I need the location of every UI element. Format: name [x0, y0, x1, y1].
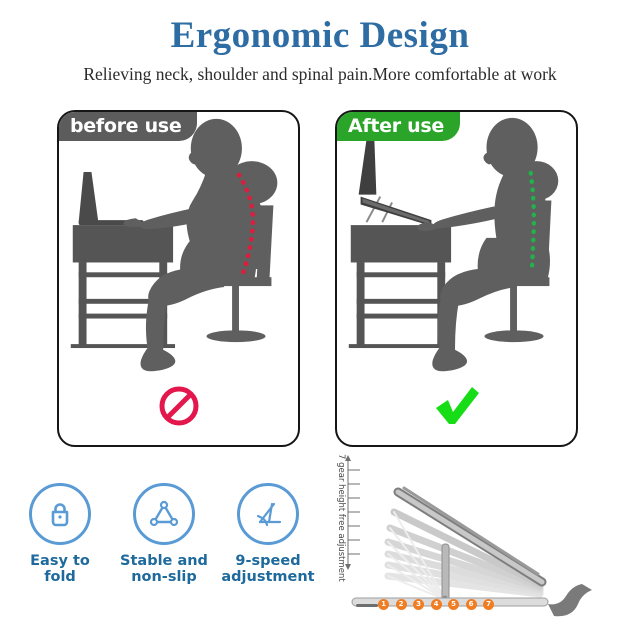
page-title: Ergonomic Design [0, 14, 640, 57]
feature-icon-wrap [133, 483, 195, 545]
feature-list: Easy to fold Stable andnon-slip [8, 483, 320, 585]
gear-marker: 5 [448, 599, 459, 610]
product-photo: 7 gear height free adjustment [326, 452, 638, 638]
checkmark-icon [432, 384, 482, 428]
page-subtitle: Relieving neck, shoulder and spinal pain… [0, 64, 640, 85]
support-post [442, 544, 449, 602]
badge-before-use: before use [58, 111, 197, 141]
height-scale [345, 455, 360, 570]
prohibition-icon [157, 384, 201, 428]
feature-label: 9-speedadjustment [220, 553, 316, 585]
feature-icon-wrap [29, 483, 91, 545]
laptop-stand-diagram [326, 452, 638, 638]
triangle-nodes-icon [146, 496, 182, 532]
gear-marker: 3 [413, 599, 424, 610]
verdict-after [432, 384, 482, 433]
angle-protractor-icon [250, 496, 286, 532]
feature-icon-wrap [237, 483, 299, 545]
gear-marker: 7 [483, 599, 494, 610]
gear-markers: 1 2 3 4 5 6 7 [378, 599, 494, 610]
feature-easy-to-fold: Easy to fold [12, 483, 108, 585]
gear-marker: 2 [396, 599, 407, 610]
gear-marker: 6 [466, 599, 477, 610]
verdict-before [157, 384, 201, 433]
infographic-page: Ergonomic Design Relieving neck, shoulde… [0, 0, 640, 640]
feature-label: Easy to fold [12, 553, 108, 585]
feature-9-speed-adjustment: 9-speedadjustment [220, 483, 316, 585]
feature-stable-non-slip: Stable andnon-slip [116, 483, 212, 585]
badge-after-use: After use [336, 111, 460, 141]
feature-label: Stable andnon-slip [116, 553, 212, 585]
scale-label: 7 gear height free adjustment [336, 454, 346, 584]
comparison-panel-before: before use [57, 110, 300, 447]
comparison-panel-after: After use [335, 110, 578, 447]
gear-marker: 4 [431, 599, 442, 610]
gear-marker: 1 [378, 599, 389, 610]
handbag-lock-icon [42, 496, 78, 532]
